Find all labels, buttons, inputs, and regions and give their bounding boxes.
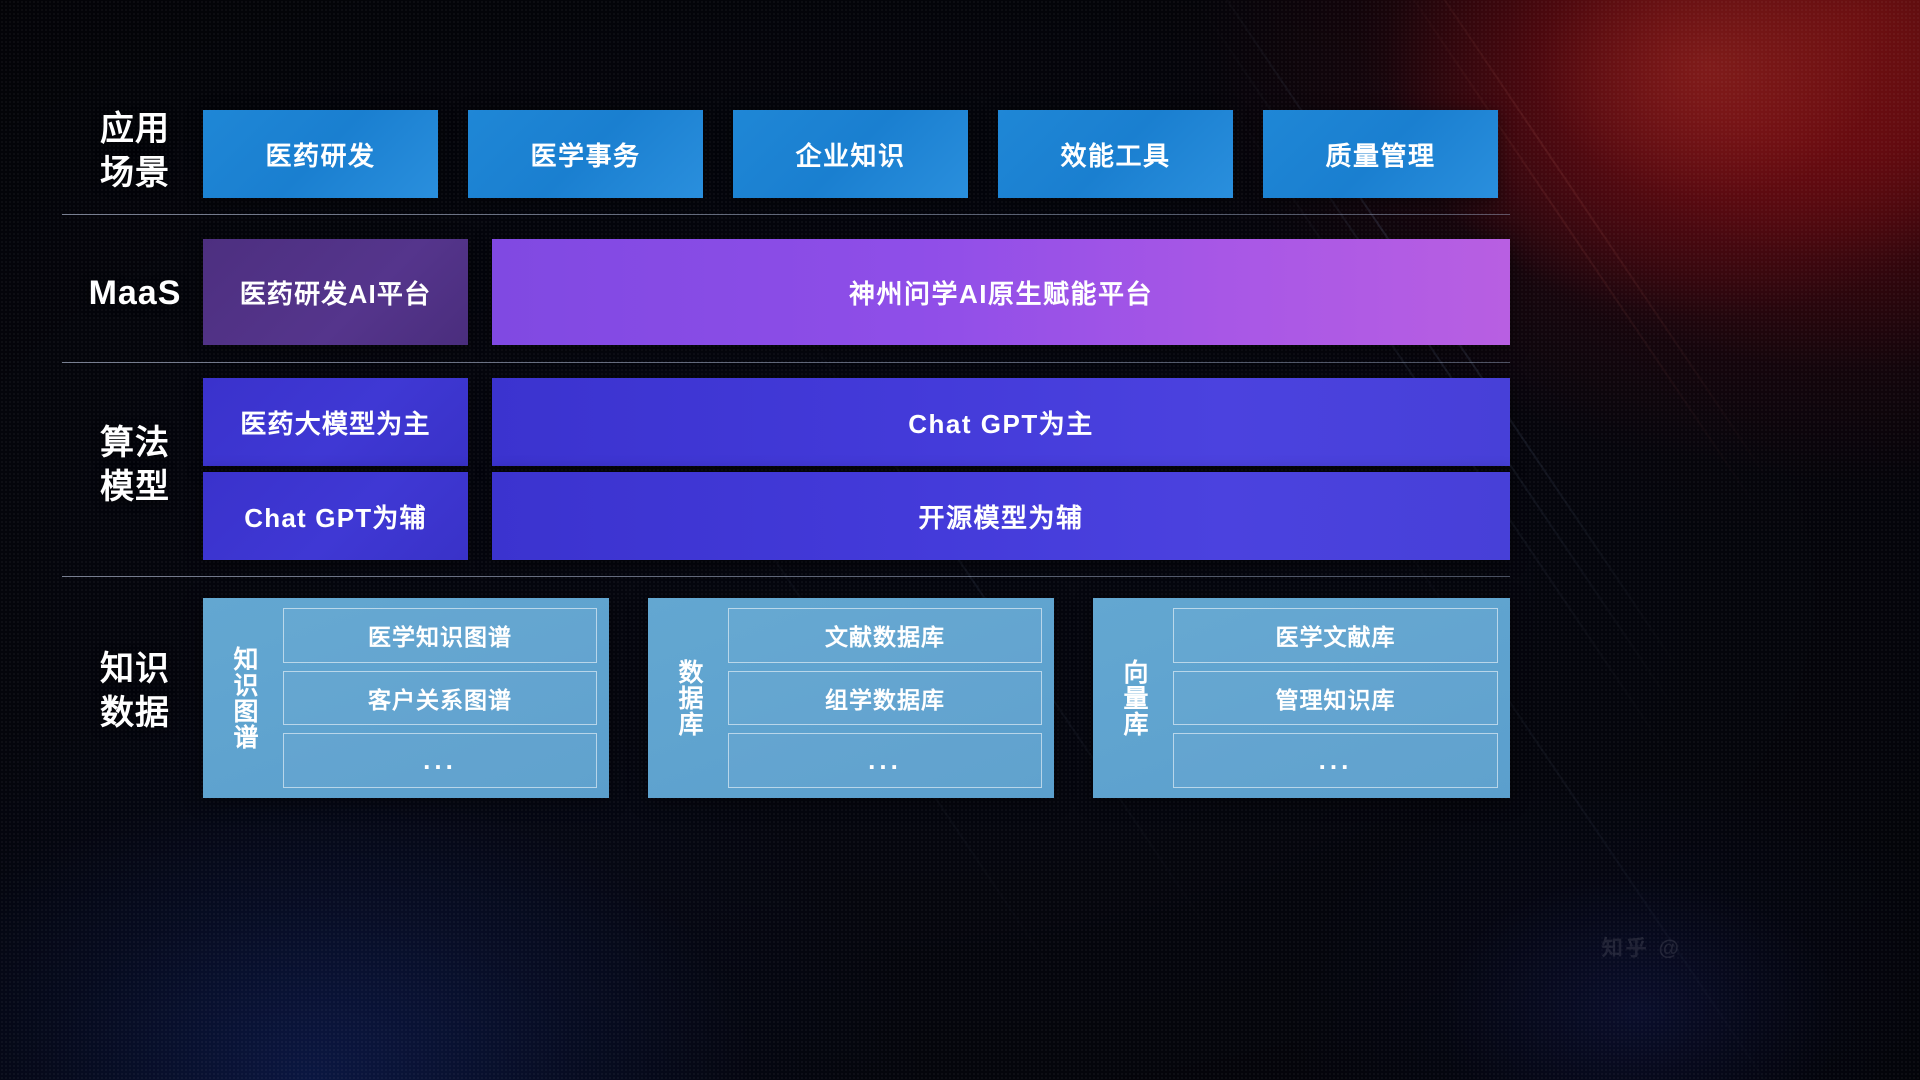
knowledge-item[interactable]: 管理知识库 (1173, 671, 1498, 726)
knowledge-group-items: 医学文献库 管理知识库 ... (1165, 608, 1498, 788)
knowledge-group-title: 数据库 (658, 608, 720, 788)
maas-platform-box-shenzhou[interactable]: 神州问学AI原生赋能平台 (492, 239, 1510, 345)
tier-algorithm-models-row-2: Chat GPT为辅 开源模型为辅 (0, 472, 1920, 560)
app-scenario-label: 医药研发 (265, 136, 375, 173)
knowledge-group-database[interactable]: 数据库 文献数据库 组学数据库 ... (648, 598, 1054, 798)
maas-platform-box-pharma[interactable]: 医药研发AI平台 (203, 239, 468, 345)
app-scenario-box-2[interactable]: 医学事务 (468, 110, 703, 198)
tier-divider-3 (62, 576, 1510, 577)
algorithm-model-label: 开源模型为辅 (918, 498, 1083, 535)
knowledge-item-more[interactable]: ... (1173, 733, 1498, 788)
tier-knowledge-data: 知识图谱 医学知识图谱 客户关系图谱 ... 数据库 文献数据库 组学数据库 .… (0, 598, 1920, 798)
knowledge-item[interactable]: 组学数据库 (728, 671, 1042, 726)
tier-application-scenarios: 医药研发 医学事务 企业知识 效能工具 质量管理 (0, 110, 1920, 198)
app-scenario-box-3[interactable]: 企业知识 (733, 110, 968, 198)
maas-platform-label: 神州问学AI原生赋能平台 (849, 274, 1153, 311)
algorithm-model-label: 医药大模型为主 (240, 404, 430, 441)
algorithm-model-box-primary-right[interactable]: Chat GPT为主 (492, 378, 1510, 466)
app-scenario-label: 医学事务 (530, 136, 640, 173)
algorithm-model-label: Chat GPT为辅 (244, 498, 426, 535)
tier-divider-1 (62, 214, 1510, 215)
watermark: 知乎 @ (1602, 932, 1682, 962)
architecture-diagram: 应用 场景 医药研发 医学事务 企业知识 效能工具 质量管理 MaaS 医药研发… (0, 0, 1920, 1080)
tier-algorithm-models-row-1: 医药大模型为主 Chat GPT为主 (0, 378, 1920, 466)
knowledge-item[interactable]: 文献数据库 (728, 608, 1042, 663)
knowledge-item[interactable]: 医学文献库 (1173, 608, 1498, 663)
knowledge-group-items: 医学知识图谱 客户关系图谱 ... (275, 608, 597, 788)
knowledge-group-title: 知识图谱 (213, 608, 275, 788)
knowledge-group-knowledge-graph[interactable]: 知识图谱 医学知识图谱 客户关系图谱 ... (203, 598, 609, 798)
knowledge-item-more[interactable]: ... (728, 733, 1042, 788)
knowledge-group-vector-store[interactable]: 向量库 医学文献库 管理知识库 ... (1093, 598, 1510, 798)
app-scenario-label: 效能工具 (1060, 136, 1170, 173)
algorithm-model-box-primary-left[interactable]: 医药大模型为主 (203, 378, 468, 466)
app-scenario-box-4[interactable]: 效能工具 (998, 110, 1233, 198)
algorithm-model-box-secondary-right[interactable]: 开源模型为辅 (492, 472, 1510, 560)
knowledge-item[interactable]: 客户关系图谱 (283, 671, 597, 726)
app-scenario-box-5[interactable]: 质量管理 (1263, 110, 1498, 198)
app-scenario-label: 企业知识 (795, 136, 905, 173)
knowledge-item-more[interactable]: ... (283, 733, 597, 788)
tier-maas: 医药研发AI平台 神州问学AI原生赋能平台 (0, 239, 1920, 345)
knowledge-group-items: 文献数据库 组学数据库 ... (720, 608, 1042, 788)
algorithm-model-box-secondary-left[interactable]: Chat GPT为辅 (203, 472, 468, 560)
app-scenario-label: 质量管理 (1325, 136, 1435, 173)
tier-divider-2 (62, 362, 1510, 363)
maas-platform-label: 医药研发AI平台 (240, 274, 432, 311)
knowledge-item[interactable]: 医学知识图谱 (283, 608, 597, 663)
app-scenario-box-1[interactable]: 医药研发 (203, 110, 438, 198)
knowledge-group-title: 向量库 (1103, 608, 1165, 788)
algorithm-model-label: Chat GPT为主 (908, 404, 1093, 441)
